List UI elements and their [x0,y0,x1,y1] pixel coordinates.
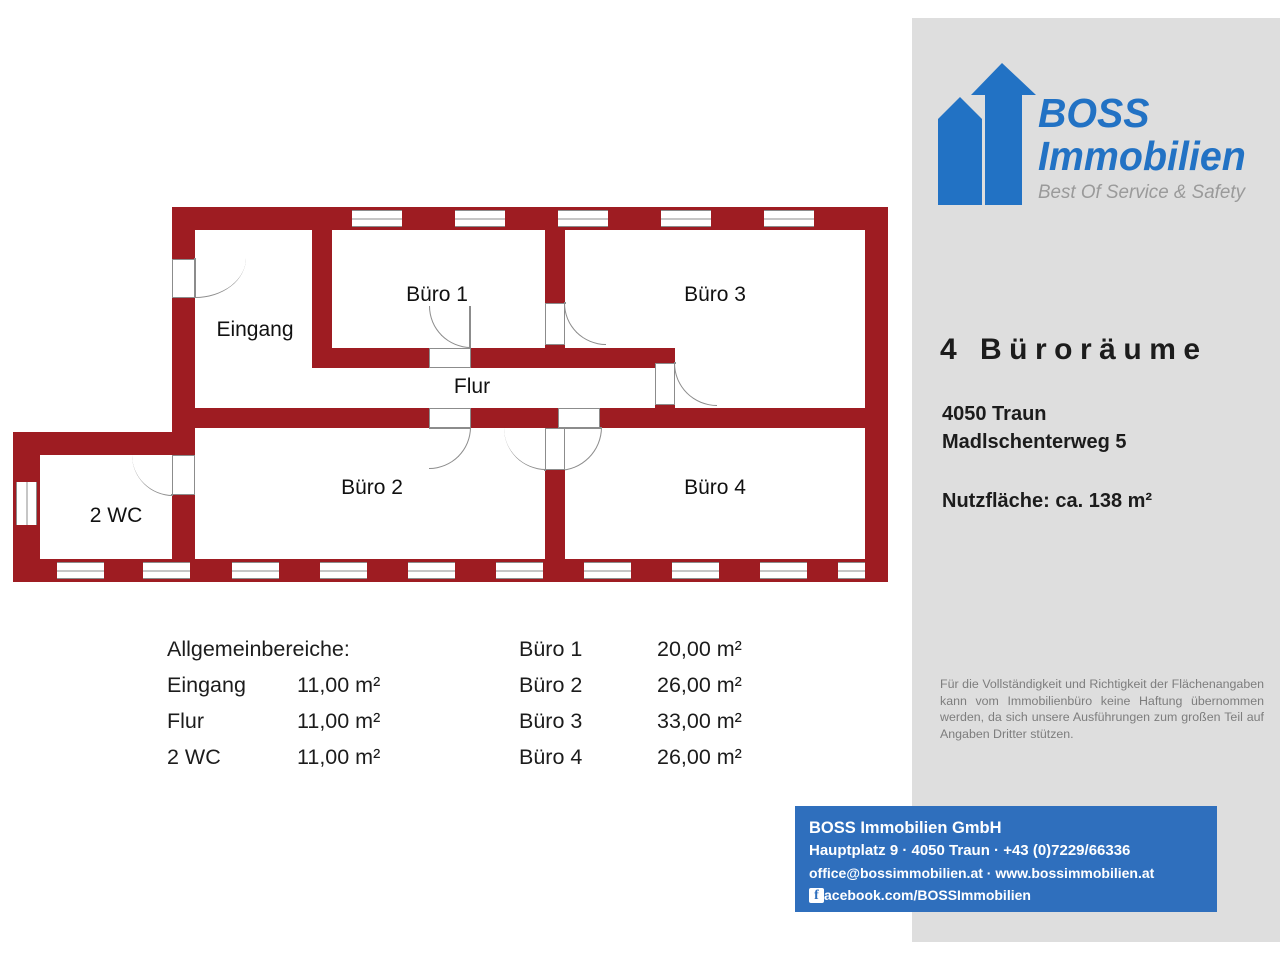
table-row: Eingang 11,00 m² Büro 2 26,00 m² [167,673,777,709]
common-areas-header: Allgemeinbereiche: [167,637,519,673]
window-top-5 [764,210,814,227]
door-swing-buero3-left [564,303,606,345]
door-swing-buero1 [429,306,471,348]
window-top-1 [352,210,402,227]
window-bottom-6 [496,562,543,579]
door-leaf-buero1 [469,306,471,348]
window-bottom-10 [838,562,865,579]
door-opening-buero2-buero4 [545,428,565,470]
office-name-1: Büro 1 [519,637,657,673]
contact-footer: BOSS Immobilien GmbH Hauptplatz 9 · 4050… [795,806,1217,912]
wall-left-main [172,207,195,445]
floorplan-exposee-page: Eingang Büro 1 Büro 3 Flur Büro 2 Büro 4… [0,0,1280,960]
office-name-3: Büro 3 [519,709,657,745]
listing-address: 4050 Traun Madlschenterweg 5 [942,400,1127,456]
building-arrows-icon [938,63,1036,205]
table-row: Allgemeinbereiche: Büro 1 20,00 m² [167,637,777,673]
door-swing-buero2 [429,427,471,469]
window-bottom-7 [584,562,631,579]
address-street: Madlschenterweg 5 [942,428,1127,456]
door-leaf-flur-buero3 [674,362,676,364]
door-swing-flur-buero3 [674,363,717,406]
brand-logo: BOSS Immobilien Best Of Service & Safety [938,63,1268,213]
wall-wc-top [13,432,195,455]
wall-eingang-buero1 [312,230,332,352]
office-name-4: Büro 4 [519,745,657,781]
brand-line-1: BOSS [1038,93,1259,134]
common-value-3: 11,00 m² [297,745,519,781]
office-value-1: 20,00 m² [657,637,777,673]
table-row: 2 WC 11,00 m² Büro 4 26,00 m² [167,745,777,781]
window-bottom-5 [408,562,455,579]
room-label-flur: Flur [424,375,520,399]
usable-area-label: Nutzfläche: ca. 138 m² [942,490,1152,513]
wall-right [865,207,888,582]
disclaimer-text: Für die Vollständigkeit und Richtigkeit … [940,676,1264,742]
window-bottom-9 [760,562,807,579]
wall-buero1-buero3 [545,230,565,368]
door-opening-flur-buero3 [655,363,675,405]
door-leaf-buero2-buero4 [544,469,546,471]
door-opening-eingang [172,259,195,298]
contact-facebook[interactable]: acebook.com/BOSSImmobilien [824,884,1031,906]
room-label-buero4: Büro 4 [667,476,763,500]
area-summary-table: Allgemeinbereiche: Büro 1 20,00 m² Einga… [167,637,787,781]
door-swing-wc [132,455,173,496]
door-swing-eingang [195,258,246,298]
door-leaf-buero2 [429,427,471,429]
door-leaf-buero3-left [564,302,566,304]
window-bottom-8 [672,562,719,579]
office-value-2: 26,00 m² [657,673,777,709]
window-bottom-1 [57,562,104,579]
door-opening-buero1 [429,348,471,368]
common-name-2: Flur [167,709,297,745]
window-bottom-3 [232,562,279,579]
wall-buero1-flur [312,348,665,368]
door-swing-buero2-buero4 [504,428,546,470]
common-name-1: Eingang [167,673,297,709]
common-value-1: 11,00 m² [297,673,519,709]
office-name-2: Büro 2 [519,673,657,709]
page-title: 4 Büroräume [940,333,1208,367]
address-city: 4050 Traun [942,400,1127,428]
wall-flur-bottom [195,408,888,428]
brand-wordmark: BOSS Immobilien Best Of Service & Safety [1038,93,1268,206]
info-sidebar: BOSS Immobilien Best Of Service & Safety… [912,18,1280,942]
brand-tagline: Best Of Service & Safety [1038,180,1266,206]
room-label-buero3: Büro 3 [667,283,763,307]
office-value-4: 26,00 m² [657,745,777,781]
office-value-3: 33,00 m² [657,709,777,745]
window-wc-left [16,482,37,525]
window-top-2 [455,210,505,227]
facebook-icon: f [809,888,824,903]
contact-address: Hauptplatz 9 · 4050 Traun · +43 (0)7229/… [809,840,1217,862]
window-bottom-4 [320,562,367,579]
door-opening-wc [172,455,195,495]
contact-company: BOSS Immobilien GmbH [809,817,1217,840]
brand-line-2: Immobilien [1038,134,1259,178]
window-bottom-2 [143,562,190,579]
common-name-3: 2 WC [167,745,297,781]
window-top-3 [558,210,608,227]
area-table: Allgemeinbereiche: Büro 1 20,00 m² Einga… [167,637,777,781]
room-label-wc: 2 WC [68,504,164,528]
room-label-buero1: Büro 1 [389,283,485,307]
table-row: Flur 11,00 m² Büro 3 33,00 m² [167,709,777,745]
window-top-4 [661,210,711,227]
room-label-buero2: Büro 2 [324,476,420,500]
floorplan-drawing: Eingang Büro 1 Büro 3 Flur Büro 2 Büro 4… [0,0,912,620]
common-value-2: 11,00 m² [297,709,519,745]
room-label-eingang: Eingang [207,318,303,342]
door-opening-buero4-top [558,408,600,428]
contact-web[interactable]: office@bossimmobilien.at · www.bossimmob… [809,862,1217,884]
door-opening-buero2 [429,408,471,428]
door-opening-buero3-left [545,303,565,345]
contact-facebook-row[interactable]: f acebook.com/BOSSImmobilien [809,884,1217,906]
